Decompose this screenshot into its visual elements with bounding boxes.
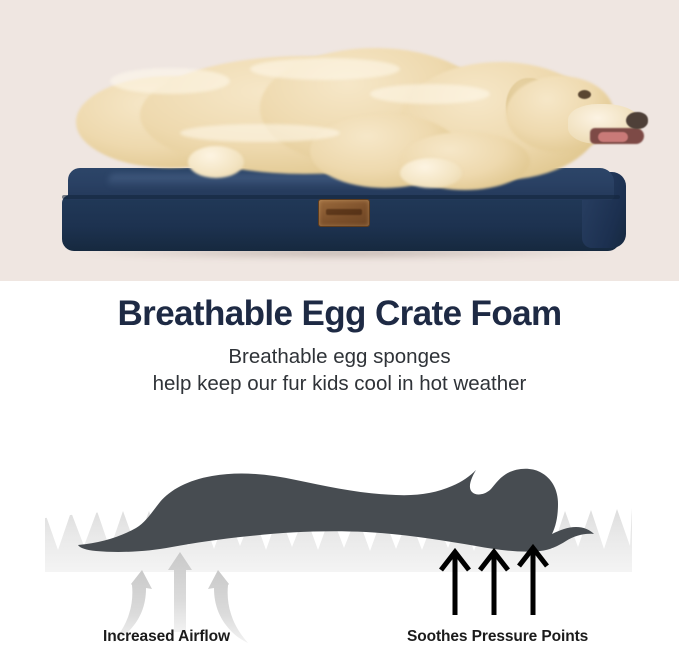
product-photo-panel [0, 0, 679, 281]
dog-nose [626, 112, 648, 129]
pressure-arrow-3 [519, 548, 547, 615]
dog-tongue [598, 132, 628, 142]
subtitle-line-1: Breathable egg sponges [228, 345, 450, 368]
fur-strand [180, 124, 340, 142]
dog-rear-paw [188, 146, 244, 178]
dog-eye [578, 90, 591, 99]
fur-strand [110, 68, 230, 94]
subtitle-line-2: help keep our fur kids cool in hot weath… [153, 372, 527, 395]
dog-front-paw [400, 158, 462, 188]
fur-strand [250, 58, 400, 80]
caption-soothes-pressure-points: Soothes Pressure Points [407, 628, 588, 646]
brand-tag [318, 199, 370, 227]
pressure-arrow-1 [441, 552, 469, 615]
brand-tag-logo-icon [326, 209, 362, 215]
pressure-arrows [441, 548, 547, 615]
subtitle: Breathable egg sponges help keep our fur… [0, 334, 679, 398]
caption-increased-airflow: Increased Airflow [103, 628, 230, 646]
pressure-arrow-2 [480, 552, 508, 615]
page-title: Breathable Egg Crate Foam [0, 281, 679, 334]
infographic-page: Breathable Egg Crate Foam Breathable egg… [0, 0, 679, 650]
fur-strand [370, 84, 490, 104]
product-photo-stage [0, 0, 679, 281]
heading-block: Breathable Egg Crate Foam Breathable egg… [0, 281, 679, 406]
foam-cross-section-diagram [0, 400, 679, 650]
golden-retriever-photo [70, 28, 610, 188]
